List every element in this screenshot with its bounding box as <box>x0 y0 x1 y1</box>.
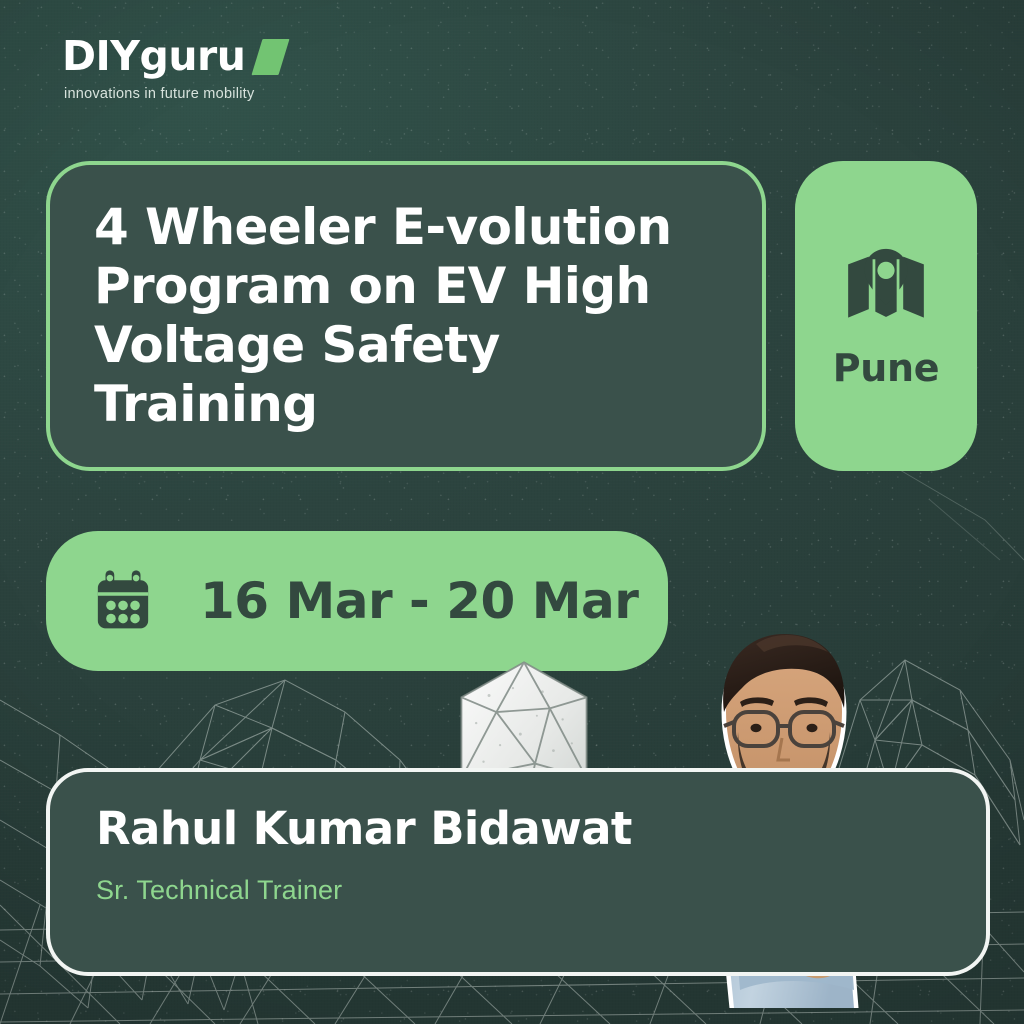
location-label: Pune <box>833 346 940 390</box>
speaker-name: Rahul Kumar Bidawat <box>96 806 986 851</box>
event-poster: DIYguru innovations in future mobility 4… <box>0 0 1024 1024</box>
title-line-2: Program on EV High <box>94 257 722 316</box>
title-line-3: Voltage Safety Training <box>94 316 722 434</box>
page-title: 4 Wheeler E-volution Program on EV High … <box>94 198 722 434</box>
date-range-label: 16 Mar - 20 Mar <box>200 572 638 630</box>
brand-name: DIYguru <box>62 36 245 77</box>
speaker-role: Sr. Technical Trainer <box>96 875 986 906</box>
brand-tagline: innovations in future mobility <box>64 86 284 102</box>
program-title-card: 4 Wheeler E-volution Program on EV High … <box>46 161 766 471</box>
location-card[interactable]: Pune <box>795 161 977 471</box>
calendar-icon <box>88 566 158 636</box>
title-line-1: 4 Wheeler E-volution <box>94 198 722 257</box>
brand-logo[interactable]: DIYguru innovations in future mobility <box>62 36 284 102</box>
map-pin-icon <box>843 242 929 328</box>
speaker-card: Rahul Kumar Bidawat Sr. Technical Traine… <box>46 768 990 976</box>
logo-row: DIYguru <box>62 36 284 77</box>
date-pill[interactable]: 16 Mar - 20 Mar <box>46 531 668 671</box>
brand-slash-icon <box>252 39 290 75</box>
